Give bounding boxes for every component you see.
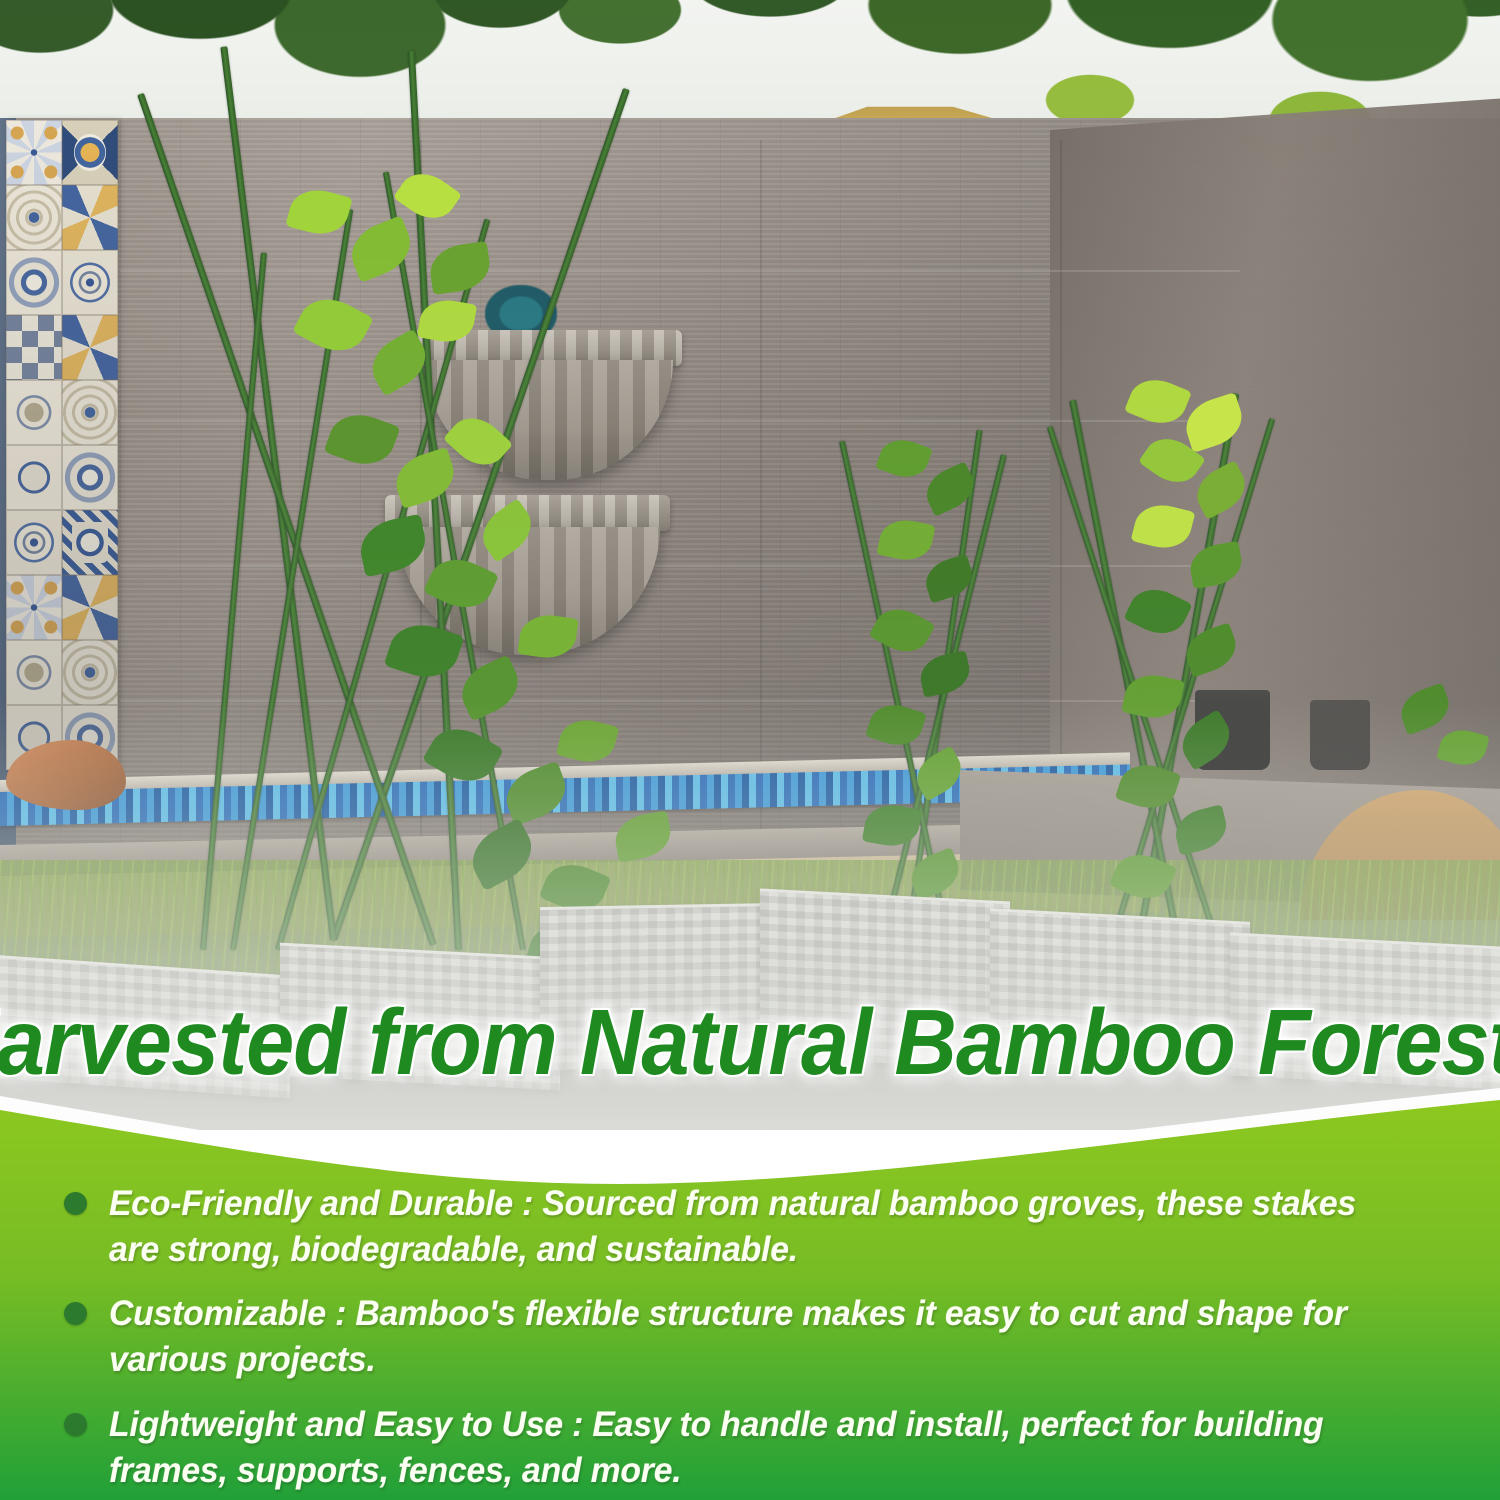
bullet-dot-icon — [64, 1192, 87, 1215]
bullet-text: Customizable : Bamboo's flexible structu… — [109, 1290, 1387, 1382]
bullet-text: Lightweight and Easy to Use : Easy to ha… — [109, 1401, 1387, 1493]
product-photo — [0, 0, 1500, 1130]
product-infographic: Harvested from Natural Bamboo Forests Ec… — [0, 0, 1500, 1500]
feature-bullet-list: Eco-Friendly and Durable : Sourced from … — [0, 1088, 1500, 1500]
headline-banner: Harvested from Natural Bamboo Forests — [0, 988, 1500, 1096]
wall-joint-vertical — [1060, 140, 1062, 840]
bullet-dot-icon — [64, 1413, 87, 1436]
azulejo-tile-column — [6, 120, 118, 770]
wall-joint — [120, 700, 1240, 702]
list-item: Lightweight and Easy to Use : Easy to ha… — [46, 1401, 1454, 1493]
wall-joint — [120, 270, 1240, 272]
features-panel: Eco-Friendly and Durable : Sourced from … — [0, 1088, 1500, 1500]
headline-text: Harvested from Natural Bamboo Forests — [0, 989, 1500, 1096]
bullet-text: Eco-Friendly and Durable : Sourced from … — [109, 1180, 1387, 1272]
bullet-dot-icon — [64, 1302, 87, 1325]
wall-joint-vertical — [760, 140, 762, 840]
black-plant-pot — [1310, 700, 1370, 770]
list-item: Customizable : Bamboo's flexible structu… — [46, 1290, 1454, 1382]
list-item: Eco-Friendly and Durable : Sourced from … — [46, 1180, 1454, 1272]
